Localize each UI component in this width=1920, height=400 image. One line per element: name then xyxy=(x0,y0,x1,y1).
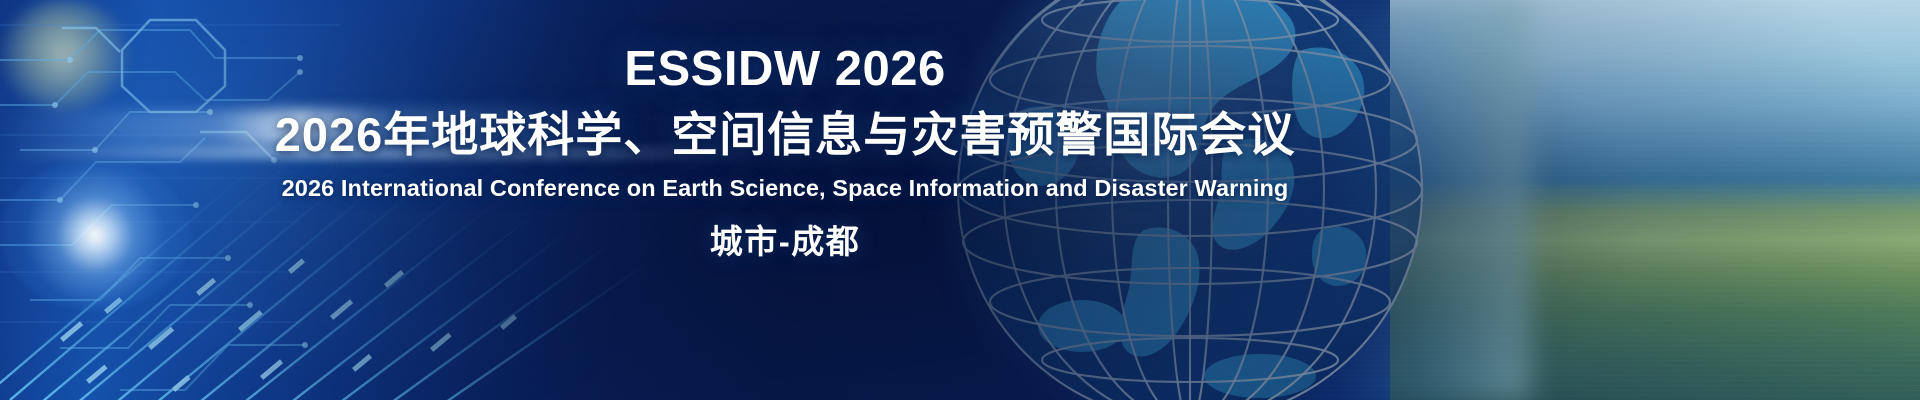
conference-title-chinese: 2026年地球科学、空间信息与灾害预警国际会议 xyxy=(275,109,1296,161)
banner-text-block: ESSIDW 2026 2026年地球科学、空间信息与灾害预警国际会议 2026… xyxy=(0,0,1570,400)
conference-banner: ESSIDW 2026 2026年地球科学、空间信息与灾害预警国际会议 2026… xyxy=(0,0,1920,400)
conference-city-label: 城市-成都 xyxy=(710,224,861,260)
conference-title-english: 2026 International Conference on Earth S… xyxy=(282,175,1289,202)
conference-acronym-title: ESSIDW 2026 xyxy=(624,44,945,95)
